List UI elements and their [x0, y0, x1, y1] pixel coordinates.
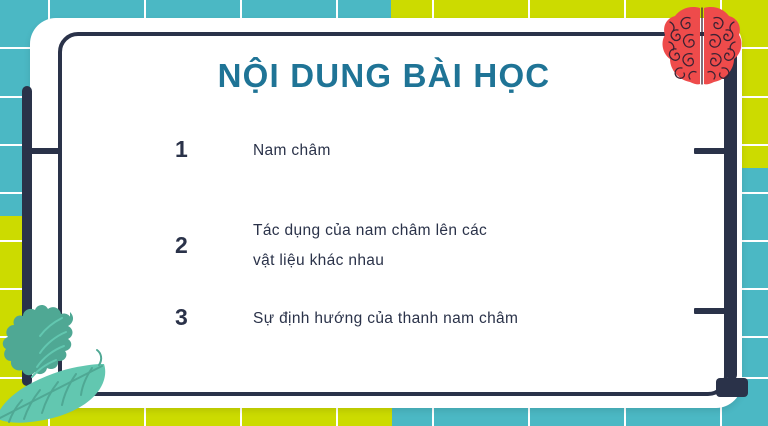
agenda-item-2-label: Tác dụng của nam châm lên các vật liệu k…: [253, 216, 487, 276]
left-bar-connector-top: [27, 148, 61, 154]
agenda-item-3-number: 3: [175, 304, 253, 334]
right-bar-connector-top: [694, 148, 732, 154]
right-bar-connector-bottom: [694, 308, 732, 314]
leaf-icon: [0, 288, 120, 426]
slide-canvas: NỘI DUNG BÀI HỌC 1 Nam châm 2 Tác dụng c…: [0, 0, 768, 426]
agenda-item-2[interactable]: 2 Tác dụng của nam châm lên các vật liệu…: [175, 216, 487, 276]
agenda-item-1[interactable]: 1 Nam châm: [175, 136, 331, 166]
right-bar-foot: [716, 378, 748, 397]
brain-icon: [660, 2, 744, 88]
agenda-item-1-number: 1: [175, 136, 253, 166]
slide-title: NỘI DUNG BÀI HỌC: [0, 57, 768, 95]
agenda-item-3[interactable]: 3 Sự định hướng của thanh nam châm: [175, 304, 518, 334]
agenda-item-1-label: Nam châm: [253, 136, 331, 166]
agenda-item-3-label: Sự định hướng của thanh nam châm: [253, 304, 518, 334]
agenda-item-2-number: 2: [175, 216, 253, 276]
